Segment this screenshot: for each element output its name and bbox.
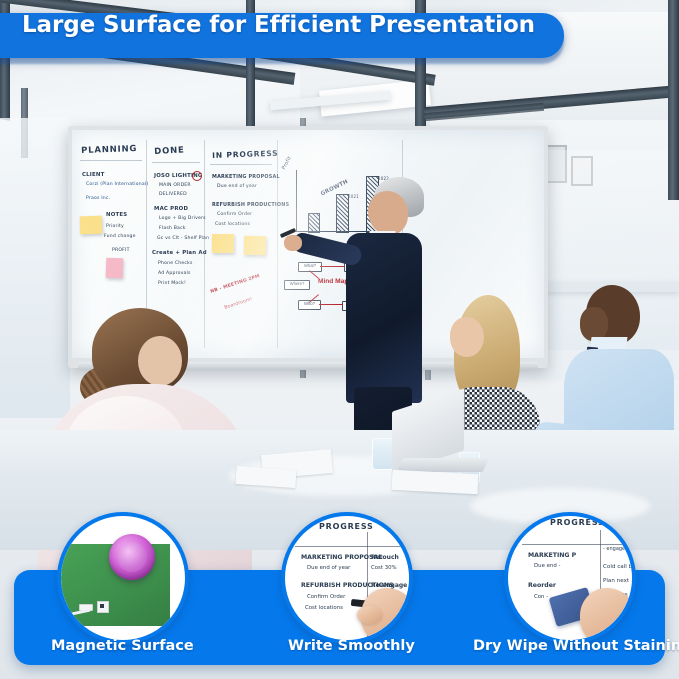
- feature-label-magnetic: Magnetic Surface: [51, 638, 194, 654]
- done-item-title: MAC PROD: [154, 206, 188, 212]
- blonde-face: [450, 317, 484, 357]
- inprogress-item-title: MARKETING PROPOSAL: [212, 174, 280, 180]
- closeup-subitem: Cost locations: [305, 605, 343, 611]
- closeup-subitem: Confirm Order: [307, 594, 345, 600]
- closeup-subitem: Cost 30%: [371, 565, 397, 571]
- done-subitem: Phone Checks: [158, 261, 193, 266]
- planning-line: PROFIT: [112, 248, 130, 253]
- done-subitem: DELIVERED: [159, 192, 187, 197]
- sticky-note: [106, 258, 124, 279]
- column-heading-in-progress: IN PROGRESS: [212, 149, 279, 160]
- done-subitem: Flash Back: [159, 226, 186, 231]
- chart-ylabel: Profit: [281, 155, 293, 170]
- feature-circle-magnetic: [57, 512, 189, 644]
- closeup-subitem: Due end -: [534, 563, 560, 569]
- done-subitem: Logo + Big Drivers: [159, 216, 206, 221]
- sticky-note: [212, 234, 234, 253]
- top-banner-title: Large Surface for Efficient Presentation: [22, 12, 535, 38]
- mind-map-node: Where?: [284, 280, 310, 290]
- done-subitem: Print Mock!: [158, 281, 186, 286]
- inprogress-subitem: Cost locations: [215, 222, 250, 227]
- header-underline: [80, 160, 142, 161]
- planning-line: Fund change: [104, 234, 136, 239]
- sticky-note: [244, 236, 266, 255]
- closeup-board-divider: [295, 546, 407, 547]
- woman-head: [138, 336, 182, 386]
- chart-y-axis: [296, 170, 297, 232]
- chart-bar: [308, 213, 320, 233]
- done-item-title: Create + Plan Ad: [152, 250, 207, 256]
- circled-marker: [192, 171, 202, 181]
- closeup-subitem: Due end of year: [307, 565, 350, 571]
- feature-circle-write: PROGRESS MARKETING PROPOSAL Due end of y…: [281, 512, 413, 644]
- water-glass: [372, 438, 394, 470]
- magnet-square-inner: [100, 604, 104, 608]
- inprogress-subitem: Due end of year: [217, 184, 257, 189]
- closeup-item-title: Reorder: [528, 582, 556, 589]
- wiping-hand: [580, 588, 632, 640]
- header-underline: [152, 162, 200, 163]
- closeup-board-divider: [522, 544, 632, 545]
- planning-block-title: NOTES: [106, 212, 127, 218]
- done-subitem: Gc vs Clt - Shelf Plan: [157, 236, 209, 241]
- closeup-heading: PROGRESS: [550, 518, 605, 527]
- header-underline: [210, 164, 272, 165]
- planning-block-title: CLIENT: [82, 172, 104, 178]
- feature-label-write: Write Smoothly: [288, 638, 415, 654]
- feature-circle-drywipe: PROGRESS MARKETING P Due end - Reorder C…: [504, 512, 636, 644]
- inprogress-item-title: REFURBISH PRODUCTIONS: [212, 202, 289, 208]
- write-closeup: PROGRESS MARKETING PROPOSAL Due end of y…: [285, 516, 409, 640]
- closeup-subitem: Con -: [534, 594, 548, 600]
- window-mullion-vertical: [668, 0, 679, 200]
- writing-thumb: [357, 606, 383, 624]
- closeup-right-note: - engage relations: [603, 546, 632, 552]
- magnetic-closeup: [61, 516, 185, 640]
- feature-label-drywipe: Dry Wipe Without Staining: [473, 638, 679, 654]
- product-marketing-image: PLANNING CLIENT Corzi (Plan Internationa…: [0, 0, 679, 679]
- closeup-item-title: Retouch: [371, 554, 399, 561]
- closeup-item-title: Plan next: [603, 578, 629, 584]
- planning-line: Priority: [106, 224, 124, 229]
- inprogress-subitem: Confirm Order: [217, 212, 252, 217]
- planning-line: Praos Inc.: [86, 196, 110, 201]
- closeup-item-title: Cold call b: [603, 564, 632, 570]
- man-face: [580, 307, 608, 341]
- done-subitem: MAIN ORDER: [159, 183, 191, 188]
- presenter-hand: [284, 235, 302, 251]
- closeup-heading: PROGRESS: [319, 522, 374, 531]
- column-heading-done: DONE: [154, 145, 185, 157]
- sticky-note: [80, 216, 103, 235]
- presenter-head: [368, 191, 408, 235]
- drywipe-closeup: PROGRESS MARKETING P Due end - Reorder C…: [508, 516, 632, 640]
- closeup-item-title: MARKETING P: [528, 552, 576, 559]
- magnet-icon: [109, 534, 155, 580]
- inprogress-annotation: NB - MEETING 2PM: [210, 274, 261, 295]
- column-heading-planning: PLANNING: [81, 144, 137, 156]
- planning-line: Corzi (Plan International): [86, 182, 148, 187]
- done-subitem: Ad Approvals: [158, 271, 191, 276]
